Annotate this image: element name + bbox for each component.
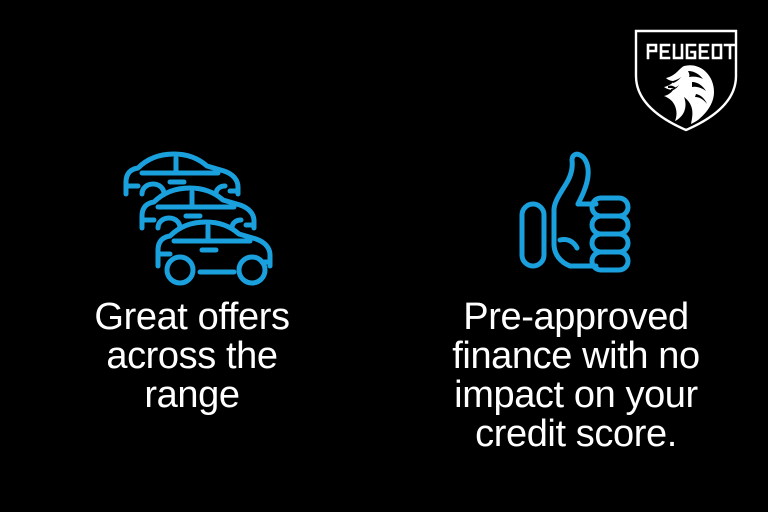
feature-item-offers: Great offers across the range [0,0,384,415]
feature-item-finance: Pre-approved finance with no impact on y… [384,0,768,454]
feature-caption-offers: Great offers across the range [62,298,322,415]
thumbs-up-icon [516,148,636,280]
promo-banner: Great offers across the range [0,0,768,512]
feature-caption-finance: Pre-approved finance with no impact on y… [426,298,726,454]
feature-list: Great offers across the range [0,0,768,512]
